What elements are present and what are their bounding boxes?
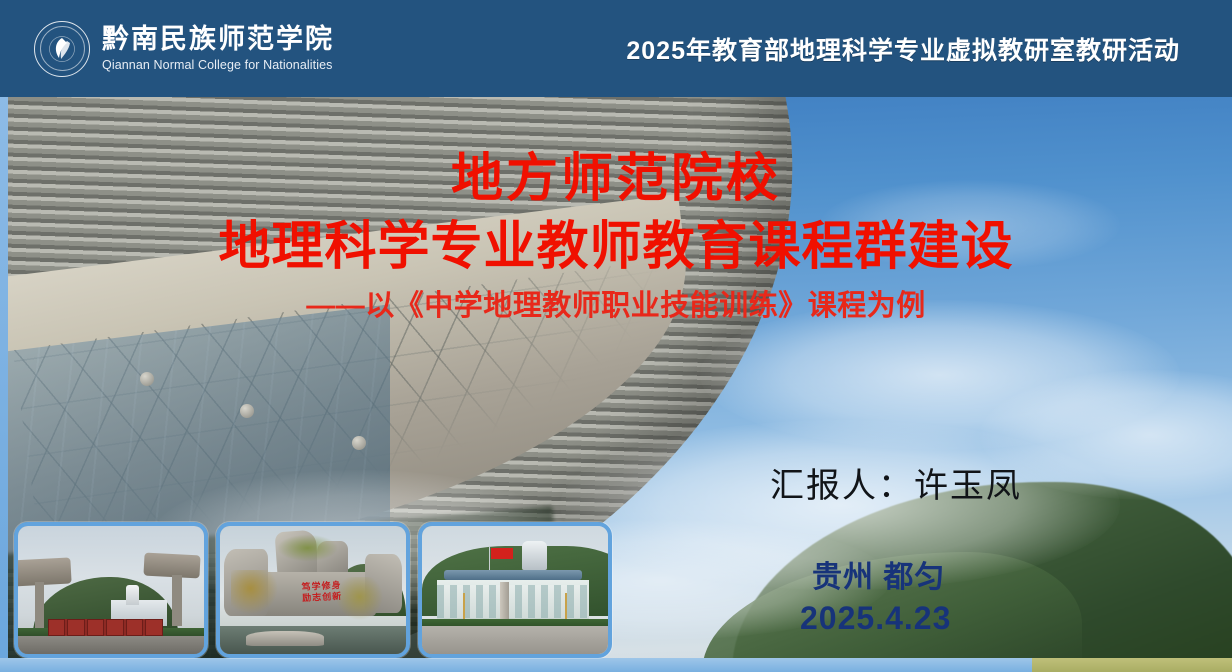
truss-node [240, 404, 254, 418]
university-name-en: Qiannan Normal College for Nationalities [102, 59, 334, 72]
presentation-slide: 黔南民族师范学院 Qiannan Normal College for Nati… [0, 0, 1232, 672]
header-bar: 黔南民族师范学院 Qiannan Normal College for Nati… [0, 0, 1232, 97]
thumbnail-strip: 笃学修身 励志创新 [14, 522, 612, 658]
bottom-edge-accent [1032, 658, 1232, 672]
title-subtitle: ——以《中学地理教师职业技能训练》课程为例 [0, 282, 1232, 324]
event-title: 2025年教育部地理科学专业虚拟教研室教研活动 [626, 31, 1180, 67]
brand-text: 黔南民族师范学院 Qiannan Normal College for Nati… [102, 26, 334, 72]
university-name-cn: 黔南民族师范学院 [102, 26, 334, 53]
campus-gateway-photo[interactable] [14, 522, 208, 658]
truss-node [140, 372, 154, 386]
university-seal-icon [34, 21, 90, 77]
rockery-garden-photo[interactable]: 笃学修身 励志创新 [216, 522, 410, 658]
title-line-2: 地理科学专业教师教育课程群建设 [0, 218, 1232, 276]
university-brand: 黔南民族师范学院 Qiannan Normal College for Nati… [34, 21, 334, 77]
date-label: 2025.4.23 [800, 600, 951, 637]
title-line-1: 地方师范院校 [0, 150, 1232, 208]
rock-inscription: 笃学修身 励志创新 [301, 581, 342, 606]
presenter-label: 汇报人：许玉凤 [770, 458, 1022, 507]
truss-node [352, 436, 366, 450]
location-label: 贵州 都匀 [812, 552, 945, 596]
title-block: 地方师范院校 地理科学专业教师教育课程群建设 ——以《中学地理教师职业技能训练》… [0, 150, 1232, 324]
main-building-photo[interactable] [418, 522, 612, 658]
